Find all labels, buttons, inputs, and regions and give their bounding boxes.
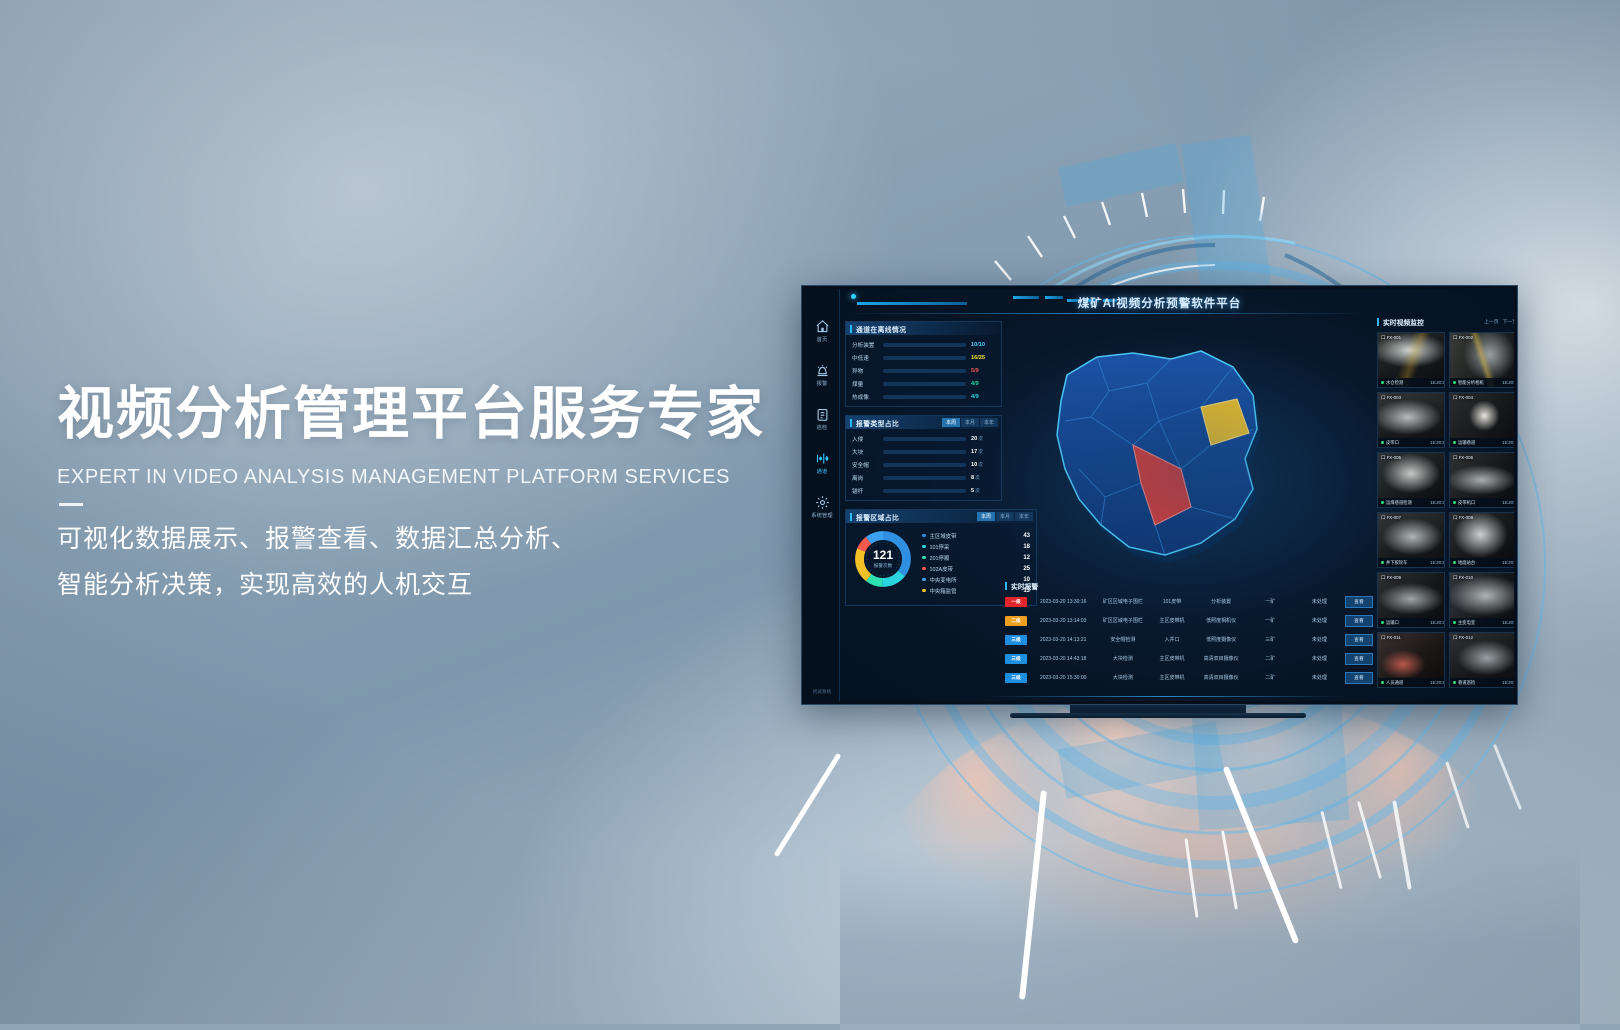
alarm-type: 大块检测 [1099,655,1146,662]
video-tile-footer: 水仓检测 15:20:30 [1378,378,1445,387]
video-tile-id: 口 FX-005 [1381,455,1401,461]
alarm-mine: 二矿 [1247,674,1294,681]
channel-bar-row[interactable]: 热成像 4/9 [846,390,1001,403]
legend-label: 101停采 [930,543,1020,551]
video-tile-name: 巷道巡检 [1458,680,1475,686]
channel-bar-track [883,343,966,347]
legend-dot [922,545,926,549]
video-tile-name: 井下胶轮车 [1386,560,1407,566]
video-feed-thumbnail [1378,453,1444,507]
video-tile-id: 口 FX-010 [1453,575,1473,581]
alarm-status: 未处理 [1296,617,1343,624]
channel-panel-title: 通道在离线情况 [856,324,906,334]
video-tile[interactable]: 口 FX-003 皮带口 15:20:30 [1377,392,1445,448]
alarm-device: 低照度摄像仪 [1198,636,1245,643]
alarm-type-label: 安全帽 [852,461,878,469]
alarm-type-value: 20次 [971,436,995,442]
video-tile-name: 水仓检测 [1386,380,1403,386]
legend-value: 25 [1023,566,1030,572]
tab-month[interactable]: 本月 [961,418,979,427]
donut-total-label: 报警次数 [874,563,892,569]
alarm-view-button[interactable]: 查看 [1345,672,1373,684]
alarm-level-badge: 三级 [1005,654,1027,664]
donut-total-value: 121 [873,549,893,561]
alarm-device: 高清双目摄像仪 [1198,674,1245,681]
sidebar-label-inspection: 巡检 [817,424,828,431]
video-feed-thumbnail [1450,393,1514,447]
video-tile-time: 15:20:30 [1502,680,1514,685]
legend-dot [922,589,926,593]
alarm-status: 未处理 [1296,655,1343,662]
alarm-time: 2023-03-20 13:14:03 [1029,618,1097,624]
video-tile-time: 15:20:30 [1430,620,1445,625]
video-tile-time: 15:20:30 [1430,440,1445,445]
realtime-alarm-header: 实时报警 [1005,579,1373,592]
donut-center-label: 121 报警次数 [852,528,914,590]
video-tile-time: 15:20:30 [1430,560,1445,565]
online-status-dot [1381,441,1384,444]
alarm-view-button[interactable]: 查看 [1345,615,1373,627]
online-status-dot [1453,621,1456,624]
alarm-area-donut-chart: 121 报警次数 [852,528,914,590]
video-tile-id: 口 FX-007 [1381,515,1401,521]
video-overlay-detail [1450,333,1514,387]
video-tile-id: 口 FX-009 [1381,575,1401,581]
alarm-type-track [883,437,966,441]
video-tile[interactable]: 口 FX-001 水仓检测 15:20:30 [1377,332,1445,388]
alarm-area: 主区皮带机 [1148,674,1195,681]
tab-year[interactable]: 本年 [1015,512,1033,521]
channel-bar-value: 4/9 [971,381,995,387]
dashboard-footer-line [985,696,1345,697]
alarm-type: 矿区区域电子围栏 [1099,617,1146,624]
alarm-time: 2023-03-20 15:30:00 [1029,675,1097,681]
table-row[interactable]: 二级 2023-03-20 13:14:03 矿区区域电子围栏 主区皮带机 低照… [1005,611,1373,630]
alarm-level-badge: 三级 [1005,673,1027,683]
alarm-area-legend: 主区域皮带 43 101停采 18 201停顺 12 102A皮带 25 中央变… [922,530,1030,596]
channel-bar-track [883,382,966,386]
video-feed-thumbnail [1450,333,1514,387]
sidebar-label-channel: 通道 [817,468,828,475]
alarm-time: 2023-03-20 14:43:18 [1029,656,1097,662]
alarm-type-value: 17次 [971,449,995,455]
alarm-area: 101皮带 [1148,598,1195,605]
panel-accent-bar [1005,582,1007,590]
alarm-type: 安全帽检测 [1099,636,1146,643]
online-status-dot [1381,621,1384,624]
video-overlay-detail [1378,333,1444,387]
alarm-level-badge: 三级 [1005,635,1027,645]
table-row[interactable]: 一级 2023-03-20 13:30:16 矿区区域电子围栏 101皮带 分析… [1005,592,1373,611]
hero-description-line-1: 可视化数据展示、报警查看、数据汇总分析、 [57,516,857,562]
map-glow [1057,351,1257,555]
table-row[interactable]: 三级 2023-03-20 14:43:18 大块检测 主区皮带机 高清双目摄像… [1005,649,1373,668]
channel-bar-row[interactable]: 煤量 4/9 [846,377,1001,390]
channel-bar-label: 煤量 [852,380,878,388]
video-tile-time: 15:20:30 [1502,560,1514,565]
video-tile-name: 皮带口 [1386,440,1399,446]
alarm-device: 分析装置 [1198,598,1245,605]
sidebar-label-alarm: 报警 [817,380,828,387]
hero-divider [59,503,83,506]
channel-status-panel: 通道在离线情况 分析装置 10/10 中低速 16/25 异物 5/9 煤量 4… [845,321,1002,407]
legend-dot [922,556,926,560]
alarm-type-bar-list: 入侵 20次 大块 17次 安全帽 10次 离岗 8次 锚杆 [846,429,1001,497]
video-tile-id: 口 FX-006 [1453,455,1473,461]
video-tile-time: 15:20:30 [1502,500,1514,505]
video-tile-time: 15:20:30 [1502,440,1514,445]
alarm-level-badge: 二级 [1005,616,1027,626]
alarm-device: 高清双目摄像仪 [1198,655,1245,662]
tab-week[interactable]: 本周 [942,418,960,427]
alarm-time: 2023-03-20 14:13:21 [1029,637,1097,643]
channel-bar-row[interactable]: 异物 5/9 [846,364,1001,377]
video-tile-id: 口 FX-004 [1453,395,1473,401]
legend-item[interactable]: 主区域皮带 43 [922,530,1030,541]
dashboard-screen: 煤矿AI视频分析预警软件平台 首页 报警 巡检 通道 [805,289,1514,701]
legend-item[interactable]: 中央箱监管 13 [922,585,1030,596]
realtime-alarm-panel: 实时报警 一级 2023-03-20 13:30:16 矿区区域电子围栏 101… [1005,579,1373,699]
online-status-dot [1381,681,1384,684]
alarm-type: 矿区区域电子围栏 [1099,598,1146,605]
video-tile[interactable]: 口 FX-005 运煤巷道检测 15:20:30 [1377,452,1445,508]
video-tile-id: 口 FX-008 [1453,515,1473,521]
alarm-type: 大块检测 [1099,674,1146,681]
video-tile[interactable]: 口 FX-002 智能分析相机 15:20:30 [1449,332,1514,388]
channel-bar-row[interactable]: 分析装置 10/10 [846,338,1001,351]
sidebar-item-inspection[interactable]: 巡检 [805,397,839,441]
alarm-area: 主区皮带机 [1148,617,1195,624]
channel-bar-label: 中低速 [852,354,878,362]
video-tile-name: 运输口 [1386,620,1399,626]
legend-dot [922,578,926,582]
channel-bar-value: 16/25 [971,355,995,361]
dashboard-header: 煤矿AI视频分析预警软件平台 [805,289,1514,323]
video-tile-name: 地面站台 [1458,560,1475,566]
legend-item[interactable]: 101停采 18 [922,541,1030,552]
video-tile-footer: 井下胶轮车 15:20:30 [1378,558,1445,567]
channel-bar-value: 10/10 [971,342,995,348]
online-status-dot [1381,561,1384,564]
video-feed-thumbnail [1378,333,1444,387]
realtime-alarm-title: 实时报警 [1011,581,1038,591]
gear-icon [815,495,830,510]
hero-subtitle: EXPERT IN VIDEO ANALYSIS MANAGEMENT PLAT… [57,466,857,489]
online-status-dot [1453,681,1456,684]
table-row[interactable]: 三级 2023-03-20 15:30:00 大块检测 主区皮带机 高清双目摄像… [1005,668,1373,687]
video-tile-footer: 皮带口 15:20:30 [1378,438,1445,447]
alarm-area-tabs: 本周 本月 本年 [977,512,1036,521]
video-feed-thumbnail [1450,573,1514,627]
legend-value: 10 [1023,577,1030,583]
alarm-area: 入井口 [1148,636,1195,643]
tab-week[interactable]: 本周 [977,512,995,521]
alarm-mine: 一矿 [1247,598,1294,605]
alarm-type-label: 锚杆 [852,487,878,495]
legend-dot [922,534,926,538]
channel-bar-label: 热成像 [852,393,878,401]
video-feed-thumbnail [1378,513,1444,567]
alarm-mine: 二矿 [1247,655,1294,662]
hero-block: 视频分析管理平台服务专家 EXPERT IN VIDEO ANALYSIS MA… [57,383,857,608]
alarm-mine: 三矿 [1247,636,1294,643]
legend-item[interactable]: 201停顺 12 [922,552,1030,563]
alarm-type-row[interactable]: 安全帽 10次 [846,458,1001,471]
video-feed-thumbnail [1450,513,1514,567]
legend-value: 18 [1023,544,1030,550]
legend-label: 主区域皮带 [930,532,1020,540]
video-tile-name: 主变电室 [1458,620,1475,626]
alarm-view-button[interactable]: 查看 [1345,634,1373,646]
channel-bar-track [883,369,966,373]
video-feed-thumbnail [1450,453,1514,507]
online-status-dot [1453,441,1456,444]
hero-description-line-2: 智能分析决策，实现高效的人机交互 [57,562,857,608]
alarm-type-track [883,450,966,454]
home-icon [815,319,830,334]
video-tile-id: 口 FX-011 [1381,635,1401,641]
online-status-dot [1381,501,1384,504]
video-tile-footer: 人员通道 15:20:30 [1378,678,1445,687]
video-tile-time: 15:20:30 [1502,380,1514,385]
alarm-status: 未处理 [1296,598,1343,605]
video-tile-name: 智能分析相机 [1458,380,1484,386]
alarm-type-row[interactable]: 大块 17次 [846,445,1001,458]
alarm-level-badge: 一级 [1005,597,1027,607]
online-status-dot [1453,501,1456,504]
online-status-dot [1453,381,1456,384]
video-tile-id: 口 FX-001 [1381,335,1401,341]
video-tile-time: 15:20:30 [1430,380,1445,385]
video-tile-time: 15:20:30 [1502,620,1514,625]
sidebar-item-alarm[interactable]: 报警 [805,353,839,397]
video-tile-footer: 运煤巷道检测 15:20:30 [1378,498,1445,507]
map-shadow [1061,359,1261,563]
monitor-bezel: 煤矿AI视频分析预警软件平台 首页 报警 巡检 通道 [801,285,1518,705]
channel-bar-row[interactable]: 中低速 16/25 [846,351,1001,364]
alarm-type-track [883,489,966,493]
channel-bar-value: 4/9 [971,394,995,400]
legend-item[interactable]: 中央变电所 10 [922,574,1030,585]
video-tile-footer: 运输口 15:20:30 [1378,618,1445,627]
sidebar: 首页 报警 巡检 通道 系统管理 机试系统 [805,289,840,701]
video-tile-time: 15:20:30 [1430,680,1445,685]
video-feed-thumbnail [1450,633,1514,687]
video-monitor-panel: 实时视频监控 上一页 下一页 口 FX-001 水仓检测 15:20:30 [1377,315,1514,697]
map-region-highlight-yellow [1201,399,1249,445]
header-underline [845,313,1365,314]
channel-bar-track [883,395,966,399]
legend-value: 12 [1023,555,1030,561]
channel-bar-value: 5/9 [971,368,995,374]
alarm-type-row[interactable]: 锚杆 5次 [846,484,1001,497]
panel-accent-bar [850,325,852,333]
legend-label: 102A皮带 [930,565,1020,573]
map-outline [1057,351,1257,555]
alarm-type-track [883,463,966,467]
panel-accent-bar [850,419,852,427]
video-feed-thumbnail [1378,393,1444,447]
video-tile-name: 运煤巷道检测 [1386,500,1412,506]
alarm-type-value: 8次 [971,475,995,481]
dashboard-title: 煤矿AI视频分析预警软件平台 [805,295,1514,311]
legend-value: 13 [1023,588,1030,594]
alarm-type-panel: 报警类型占比 本周 本月 本年 入侵 20次 大块 17次 安全帽 10次 [845,415,1002,501]
alarm-type-row[interactable]: 入侵 20次 [846,432,1001,445]
video-tile-id: 口 FX-012 [1453,635,1473,641]
alarm-type-track [883,476,966,480]
alarm-area-panel: 报警区域占比 本周 本月 本年 121 报警次数 [845,509,1037,606]
alarm-type-value: 5次 [971,488,995,494]
alarm-type-label: 大块 [852,448,878,456]
alarm-view-button[interactable]: 查看 [1345,596,1373,608]
alarm-area-panel-title: 报警区域占比 [856,512,899,522]
panel-accent-bar [850,513,852,521]
video-tile-id: 口 FX-003 [1381,395,1401,401]
alarm-type-panel-header: 报警类型占比 本周 本月 本年 [846,416,1001,429]
channel-icon [815,451,830,466]
channel-bar-label: 异物 [852,367,878,375]
legend-dot [922,567,926,571]
alarm-mine: 一矿 [1247,617,1294,624]
video-tile-footer: 运输巷道 15:20:30 [1450,438,1514,447]
alarm-type-value: 10次 [971,462,995,468]
channel-bar-label: 分析装置 [852,341,878,349]
video-tile-time: 15:20:30 [1430,500,1445,505]
video-tile[interactable]: 口 FX-012 巷道巡检 15:20:30 [1449,632,1514,688]
legend-label: 201停顺 [930,554,1020,562]
video-tile-footer: 智能分析相机 15:20:30 [1450,378,1514,387]
sidebar-item-system[interactable]: 系统管理 [805,485,839,529]
video-tile[interactable]: 口 FX-006 皮带机口 15:20:30 [1449,452,1514,508]
sidebar-footer: 机试系统 [805,689,839,696]
online-status-dot [1453,561,1456,564]
video-tile-name: 人员通道 [1386,680,1403,686]
video-tile[interactable]: 口 FX-004 运输巷道 15:20:30 [1449,392,1514,448]
legend-item[interactable]: 102A皮带 25 [922,563,1030,574]
tab-year[interactable]: 本年 [980,418,998,427]
alarm-status: 未处理 [1296,674,1343,681]
monitor-base [1010,713,1306,718]
video-tile[interactable]: 口 FX-008 地面站台 15:20:30 [1449,512,1514,568]
alarm-device: 低照度相机仪 [1198,617,1245,624]
video-tile[interactable]: 口 FX-007 井下胶轮车 15:20:30 [1377,512,1445,568]
alarm-icon [815,363,830,378]
alarm-view-button[interactable]: 查看 [1345,653,1373,665]
video-tile-name: 运输巷道 [1458,440,1475,446]
map-region-highlight-red [1133,445,1191,525]
video-feed-thumbnail [1378,633,1444,687]
online-status-dot [1381,381,1384,384]
tab-month[interactable]: 本月 [996,512,1014,521]
channel-bar-track [883,356,966,360]
alarm-area-panel-header: 报警区域占比 本周 本月 本年 [846,510,1036,523]
legend-label: 中央箱监管 [930,587,1020,595]
video-tile[interactable]: 口 FX-009 运输口 15:20:30 [1377,572,1445,628]
alarm-type-row[interactable]: 离岗 8次 [846,471,1001,484]
legend-label: 中央变电所 [930,576,1020,584]
video-tile-footer: 主变电室 15:20:30 [1450,618,1514,627]
video-tile-footer: 巷道巡检 15:20:30 [1450,678,1514,687]
alarm-status: 未处理 [1296,636,1343,643]
alarm-time: 2023-03-20 13:30:16 [1029,599,1097,605]
channel-bar-list: 分析装置 10/10 中低速 16/25 异物 5/9 煤量 4/9 热成像 [846,335,1001,403]
page-title: 视频分析管理平台服务专家 [57,383,857,446]
sidebar-item-channel[interactable]: 通道 [805,441,839,485]
legend-value: 43 [1023,533,1030,539]
sidebar-item-home[interactable]: 首页 [805,309,839,353]
sidebar-label-home: 首页 [817,336,828,343]
video-tile-id: 口 FX-002 [1453,335,1473,341]
alarm-area: 主区皮带机 [1148,655,1195,662]
region-map[interactable] [1005,329,1305,584]
video-tile-footer: 皮带机口 15:20:30 [1450,498,1514,507]
table-row[interactable]: 三级 2023-03-20 14:13:21 安全帽检测 入井口 低照度摄像仪 … [1005,630,1373,649]
video-tile-name: 皮带机口 [1458,500,1475,506]
alarm-type-panel-title: 报警类型占比 [856,418,899,428]
video-feed-thumbnail [1378,573,1444,627]
video-tile[interactable]: 口 FX-010 主变电室 15:20:30 [1449,572,1514,628]
alarm-type-label: 离岗 [852,474,878,482]
sidebar-label-system: 系统管理 [811,512,833,519]
alarm-type-label: 入侵 [852,435,878,443]
video-tile-footer: 地面站台 15:20:30 [1450,558,1514,567]
video-tile-grid: 口 FX-001 水仓检测 15:20:30 口 FX-002 智能分析相机 1… [1377,332,1514,688]
video-tile[interactable]: 口 FX-011 人员通道 15:20:30 [1377,632,1445,688]
alarm-type-tabs: 本周 本月 本年 [942,418,1001,427]
clipboard-icon [815,407,830,422]
map-subregions [1065,357,1253,555]
channel-panel-header: 通道在离线情况 [846,322,1001,335]
